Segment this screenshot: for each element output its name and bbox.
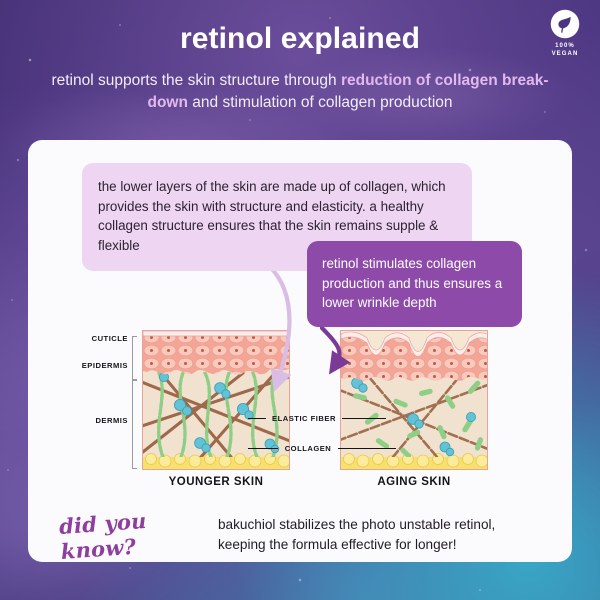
diagram-aging-skin: AGING SKIN [340, 330, 490, 495]
subtitle-text-1: retinol supports the skin structure thro… [51, 72, 340, 89]
bracket-epidermis [132, 336, 137, 380]
vegan-badge: 100% VEGAN [542, 9, 588, 58]
caption-younger-skin: YOUNGER SKIN [142, 476, 290, 488]
label-epidermis: EPIDERMIS [60, 361, 128, 370]
leader-elastic-left [248, 418, 266, 419]
page-subtitle: retinol supports the skin structure thro… [50, 70, 550, 115]
footer-fact-line2: keeping the formula effective for longer… [218, 537, 457, 552]
skin-cross-section-aging [340, 330, 488, 470]
leader-elastic-right [342, 418, 386, 419]
label-cuticle: CUTICLE [60, 334, 128, 343]
leader-collagen-left [248, 448, 278, 449]
label-dermis: DERMIS [60, 416, 128, 425]
vegan-badge-text: 100% VEGAN [542, 42, 588, 58]
leaf-icon [550, 9, 580, 39]
footer-fact-line1: bakuchiol stabilizes the photo unstable … [218, 517, 495, 532]
caption-aging-skin: AGING SKIN [340, 476, 488, 488]
label-collagen: COLLAGEN [280, 444, 336, 453]
vegan-percent: 100% [555, 43, 575, 49]
footer-fact: bakuchiol stabilizes the photo unstable … [218, 515, 538, 556]
bracket-dermis [132, 380, 137, 469]
vegan-word: VEGAN [552, 51, 579, 57]
skin-cross-section-younger [142, 330, 290, 470]
subtitle-text-2: and stimulation of collagen production [188, 94, 453, 111]
page-title: retinol explained [0, 22, 600, 56]
callout-dark: retinol stimulates collagen production a… [307, 241, 522, 327]
infographic: retinol explained retinol supports the s… [0, 0, 600, 600]
label-elastic-fiber: ELASTIC FIBER [268, 414, 340, 423]
diagram-younger-skin: CUTICLE EPIDERMIS DERMIS [60, 330, 300, 495]
leader-collagen-right [338, 448, 396, 449]
